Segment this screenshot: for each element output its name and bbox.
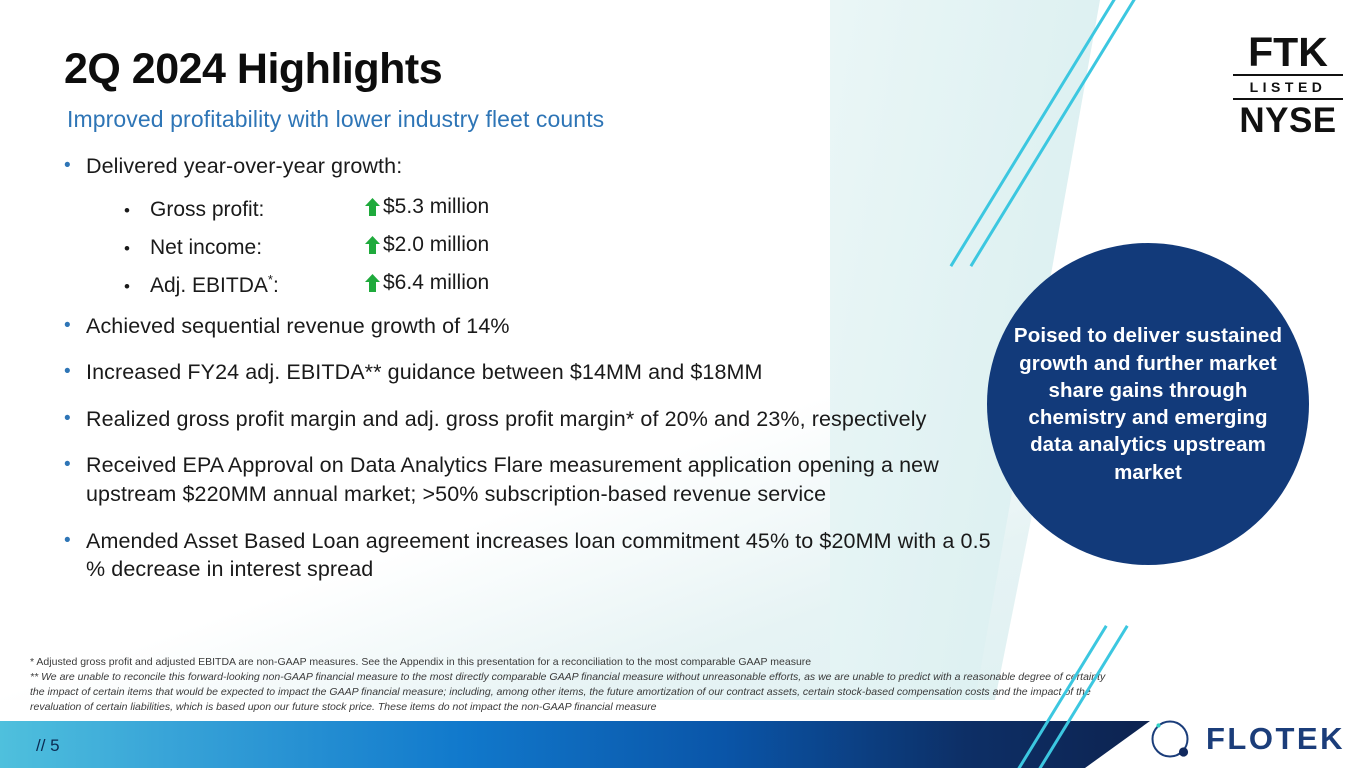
bullet-text: Achieved sequential revenue growth of 14… bbox=[86, 312, 994, 341]
nyse-listed-logo: FTK LISTED NYSE bbox=[1233, 33, 1343, 140]
bullet-text: Amended Asset Based Loan agreement incre… bbox=[86, 527, 994, 584]
footnotes: * Adjusted gross profit and adjusted EBI… bbox=[30, 655, 1120, 715]
list-item: • Achieved sequential revenue growth of … bbox=[64, 312, 994, 341]
footnote-single-star: * Adjusted gross profit and adjusted EBI… bbox=[30, 655, 1120, 670]
flotek-ring-icon bbox=[1145, 714, 1195, 764]
metric-row: • Adj. EBITDA*: $6.4 million bbox=[124, 271, 994, 298]
metric-label: Gross profit: bbox=[150, 198, 365, 222]
bullet-text: Realized gross profit margin and adj. gr… bbox=[86, 405, 994, 434]
metric-row: • Net income: $2.0 million bbox=[124, 233, 994, 260]
footnote-marker: * bbox=[268, 272, 273, 287]
bullet-marker-icon: • bbox=[64, 405, 86, 433]
metric-value-group: $5.3 million bbox=[365, 195, 489, 219]
arrow-up-icon bbox=[365, 236, 380, 254]
bullet-marker-icon: • bbox=[64, 312, 86, 340]
list-item: • Amended Asset Based Loan agreement inc… bbox=[64, 527, 994, 584]
list-item: • Increased FY24 adj. EBITDA** guidance … bbox=[64, 358, 994, 387]
metric-label: Net income: bbox=[150, 236, 365, 260]
bullet-text: Delivered year-over-year growth: bbox=[86, 152, 994, 181]
bullet-text: Increased FY24 adj. EBITDA** guidance be… bbox=[86, 358, 994, 387]
bullet-marker-icon: • bbox=[64, 152, 86, 180]
highlights-list: • Delivered year-over-year growth: • Gro… bbox=[64, 152, 994, 598]
metric-value: $2.0 million bbox=[383, 233, 489, 257]
listed-label: LISTED bbox=[1233, 74, 1343, 100]
bullet-marker-icon: • bbox=[64, 358, 86, 386]
arrow-up-icon bbox=[365, 198, 380, 216]
page-number: // 5 bbox=[36, 736, 60, 756]
bottom-bar-hairline bbox=[0, 719, 1150, 721]
list-item: • Delivered year-over-year growth: bbox=[64, 152, 994, 181]
metrics-group: • Gross profit: $5.3 million • Net incom… bbox=[124, 195, 994, 298]
list-item: • Realized gross profit margin and adj. … bbox=[64, 405, 994, 434]
metric-row: • Gross profit: $5.3 million bbox=[124, 195, 994, 222]
metric-label-text: Adj. EBITDA bbox=[150, 274, 268, 297]
flotek-logo: FLOTEK bbox=[1145, 714, 1345, 764]
footnote-double-star: ** We are unable to reconcile this forwa… bbox=[30, 670, 1120, 715]
bottom-gradient-bar bbox=[0, 721, 1150, 768]
slide-canvas: FTK LISTED NYSE 2Q 2024 Highlights Impro… bbox=[0, 0, 1365, 768]
metric-value-group: $6.4 million bbox=[365, 271, 489, 295]
page-title: 2Q 2024 Highlights bbox=[64, 45, 442, 94]
metric-value-group: $2.0 million bbox=[365, 233, 489, 257]
list-item: • Received EPA Approval on Data Analytic… bbox=[64, 451, 994, 508]
arrow-up-icon bbox=[365, 274, 380, 292]
exchange-name: NYSE bbox=[1233, 102, 1343, 141]
callout-circle: Poised to deliver sustained growth and f… bbox=[987, 243, 1309, 565]
ticker-symbol: FTK bbox=[1233, 33, 1343, 72]
page-subtitle: Improved profitability with lower indust… bbox=[67, 106, 604, 133]
bullet-marker-icon: • bbox=[124, 201, 150, 221]
metric-value: $6.4 million bbox=[383, 271, 489, 295]
bullet-marker-icon: • bbox=[64, 451, 86, 479]
bullet-marker-icon: • bbox=[124, 277, 150, 297]
bullet-text: Received EPA Approval on Data Analytics … bbox=[86, 451, 994, 508]
bullet-marker-icon: • bbox=[64, 527, 86, 555]
bullet-marker-icon: • bbox=[124, 239, 150, 259]
metric-label: Adj. EBITDA*: bbox=[150, 274, 365, 298]
callout-text: Poised to deliver sustained growth and f… bbox=[987, 322, 1309, 486]
metric-value: $5.3 million bbox=[383, 195, 489, 219]
flotek-wordmark: FLOTEK bbox=[1206, 721, 1345, 757]
